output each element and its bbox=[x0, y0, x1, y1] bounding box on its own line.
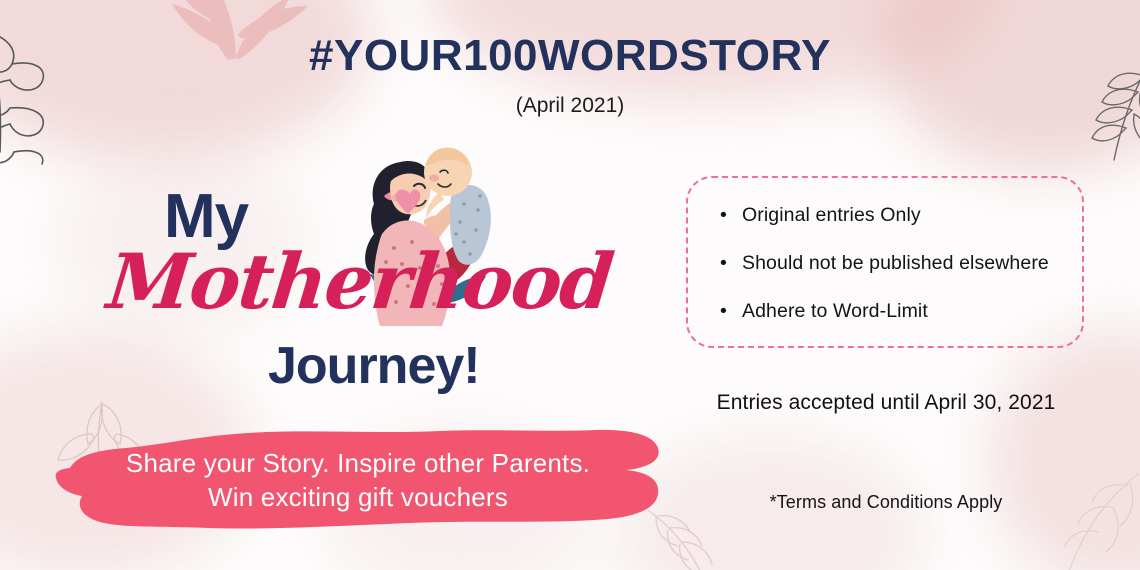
bullet-icon: • bbox=[720, 300, 727, 323]
palm-frond-outline-icon bbox=[1040, 470, 1140, 570]
terms-and-conditions-text: *Terms and Conditions Apply bbox=[686, 492, 1086, 513]
list-item: • Adhere to Word-Limit bbox=[720, 300, 1082, 323]
bullet-icon: • bbox=[720, 204, 727, 227]
list-item: • Should not be published elsewhere bbox=[720, 252, 1082, 275]
bullet-icon: • bbox=[720, 252, 727, 275]
deadline-text: Entries accepted until April 30, 2021 bbox=[686, 391, 1086, 415]
banner-line-1: Share your Story. Inspire other Parents. bbox=[126, 446, 590, 480]
campaign-logo: My Motherhood Journey! bbox=[120, 180, 540, 410]
banner-text-group: Share your Story. Inspire other Parents.… bbox=[48, 424, 668, 536]
rule-text: Adhere to Word-Limit bbox=[742, 300, 928, 322]
logo-line-motherhood: Motherhood bbox=[104, 244, 532, 320]
logo-line-journey: Journey! bbox=[268, 340, 480, 392]
rule-text: Original entries Only bbox=[742, 204, 921, 226]
poster-header: #YOUR100WORDSTORY (April 2021) bbox=[0, 34, 1140, 118]
rule-text: Should not be published elsewhere bbox=[742, 252, 1049, 274]
page-title: #YOUR100WORDSTORY bbox=[0, 34, 1140, 78]
page-subtitle: (April 2021) bbox=[0, 94, 1140, 118]
banner-line-2: Win exciting gift vouchers bbox=[208, 480, 508, 514]
rules-box: • Original entries Only • Should not be … bbox=[686, 176, 1084, 348]
promo-poster: #YOUR100WORDSTORY (April 2021) bbox=[0, 0, 1140, 570]
call-to-action-banner: Share your Story. Inspire other Parents.… bbox=[48, 424, 668, 536]
list-item: • Original entries Only bbox=[720, 204, 1082, 227]
rules-list: • Original entries Only • Should not be … bbox=[688, 178, 1082, 323]
background-wash bbox=[990, 330, 1140, 570]
